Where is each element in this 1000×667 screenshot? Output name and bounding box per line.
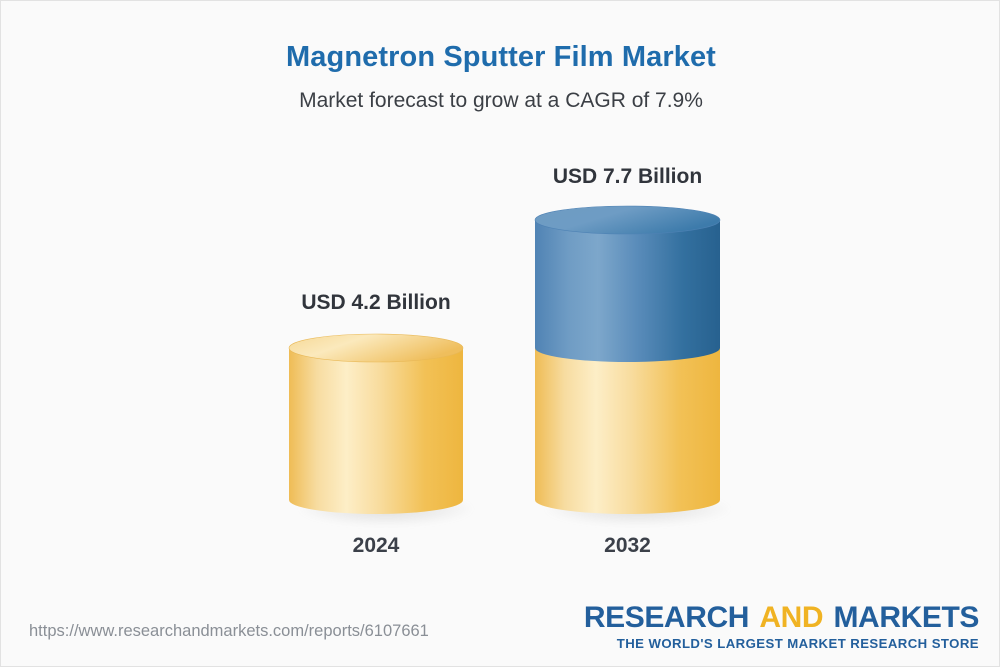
bar-value-label-2032: USD 7.7 Billion <box>535 165 720 189</box>
logo-wordmark: RESEARCH AND MARKETS <box>584 603 979 634</box>
bar-cylinder-2032-svg <box>535 206 720 536</box>
logo-word-research: RESEARCH <box>584 601 749 634</box>
logo-space-2 <box>823 601 833 634</box>
bar-cylinder-2024 <box>289 334 463 514</box>
research-and-markets-logo[interactable]: RESEARCH AND MARKETS THE WORLD'S LARGEST… <box>584 603 979 651</box>
bar-value-label-2024: USD 4.2 Billion <box>289 291 463 315</box>
logo-word-markets: MARKETS <box>833 601 979 634</box>
bar-category-label-2032: 2032 <box>535 534 720 558</box>
logo-tagline: THE WORLD'S LARGEST MARKET RESEARCH STOR… <box>584 636 979 651</box>
bar-top-ellipse-2024 <box>289 334 463 362</box>
bar-cylinder-2032 <box>535 206 720 514</box>
bar-category-label-2024: 2024 <box>289 534 463 558</box>
logo-word-and: AND <box>759 601 823 634</box>
bar-top-ellipse-2032 <box>535 206 720 234</box>
bar-cylinder-2024-svg <box>289 334 463 534</box>
source-url[interactable]: https://www.researchandmarkets.com/repor… <box>29 622 429 641</box>
bar-body-2024 <box>289 348 463 514</box>
bar-body-blue-2032 <box>535 220 720 362</box>
logo-space-1 <box>749 601 759 634</box>
chart-canvas: Magnetron Sputter Film Market Market for… <box>0 0 1000 667</box>
bar-chart-plot-area: USD 4.2 Billion <box>1 1 1000 591</box>
